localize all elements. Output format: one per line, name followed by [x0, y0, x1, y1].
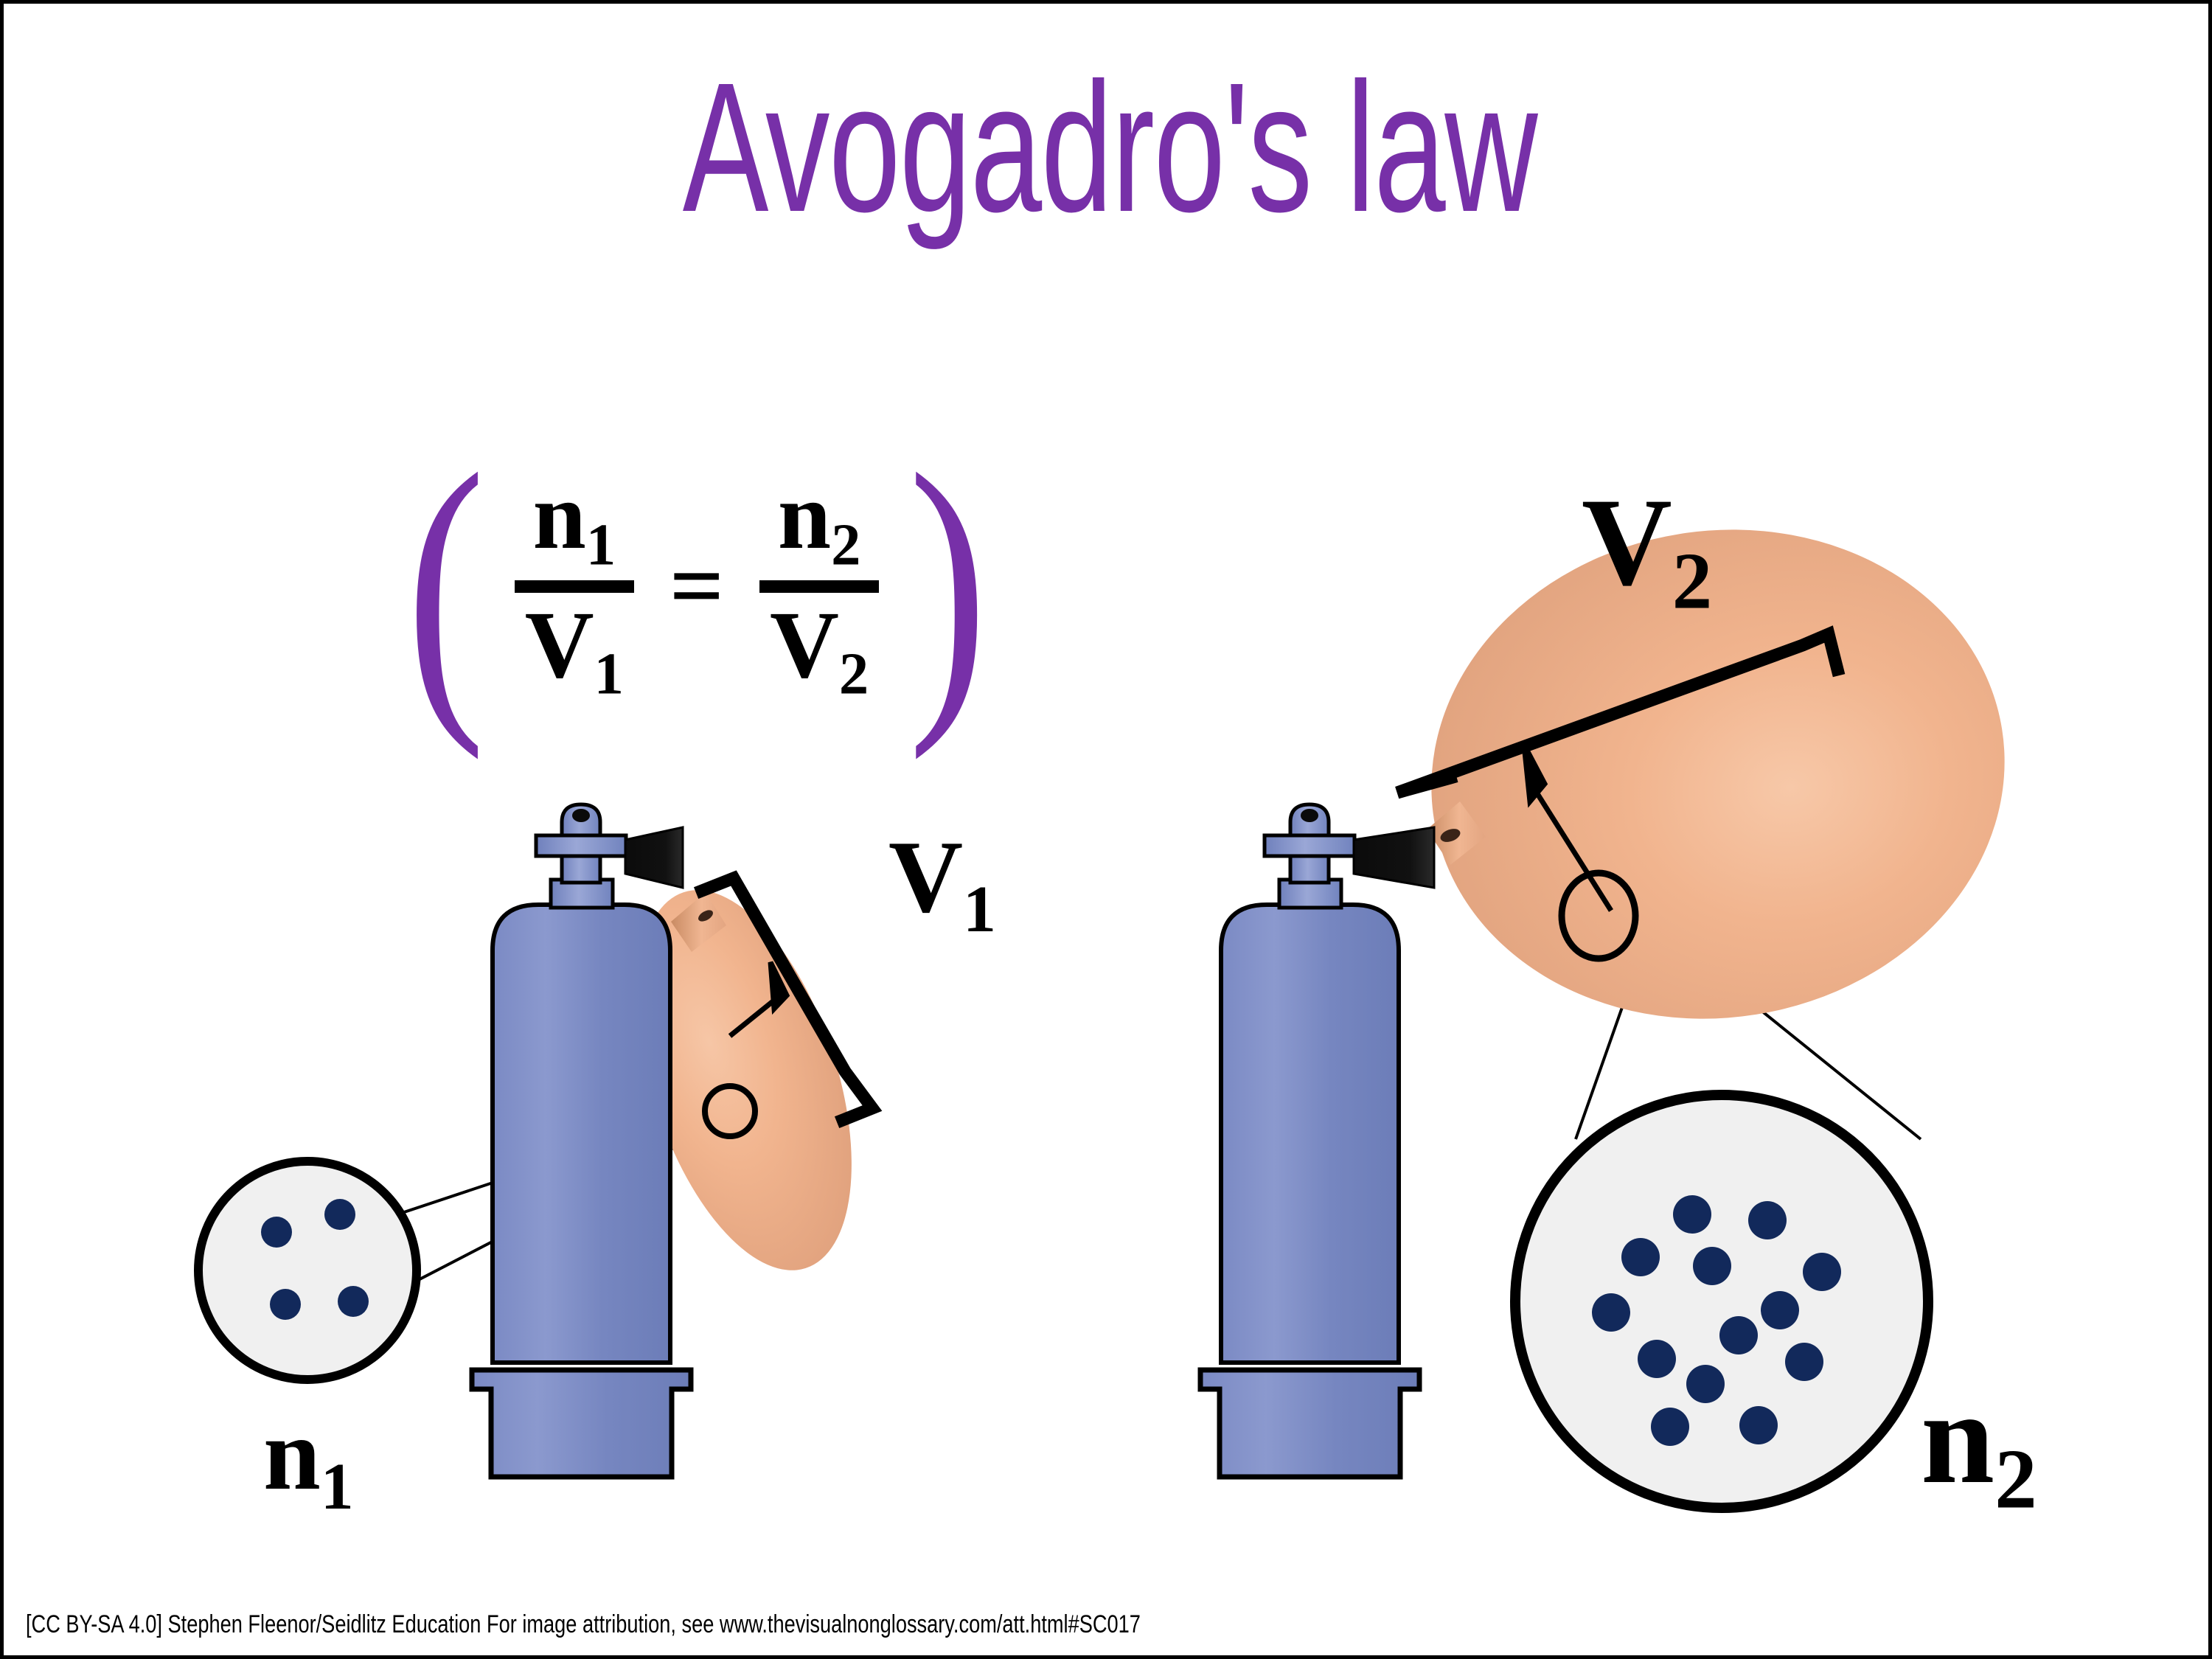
cylinder-body — [493, 905, 670, 1363]
gas-molecule — [261, 1217, 292, 1248]
v1-label: V1 — [888, 826, 996, 942]
gas-molecule — [338, 1286, 369, 1317]
right-gas-cylinder — [1200, 804, 1434, 1477]
v1-measure-bracket — [702, 878, 872, 1120]
denominator-v2: V2 — [759, 597, 879, 704]
balloon-body — [596, 863, 893, 1296]
right-magnifier — [1515, 1095, 1928, 1508]
cylinder-valve-handle — [1265, 835, 1354, 856]
right-scene — [1200, 489, 2040, 1508]
gas-molecule — [1761, 1291, 1799, 1329]
v2-label: V2 — [1582, 479, 1712, 622]
close-bracket: ) — [908, 462, 987, 709]
fraction-bar — [759, 580, 879, 593]
left-detail-circle — [705, 1086, 755, 1136]
gas-molecule — [1785, 1343, 1823, 1381]
left-balloon — [596, 863, 893, 1296]
left-magnifier — [198, 1161, 417, 1380]
gas-molecule — [1803, 1253, 1841, 1291]
gas-molecule — [1638, 1340, 1676, 1378]
attribution-footer: [CC BY-SA 4.0] Stephen Fleenor/Seidlitz … — [26, 1610, 1141, 1639]
v2-arrow-icon — [1524, 745, 1611, 911]
cylinder-valve-handle — [536, 835, 626, 856]
fraction-n1-over-v1: n1 V1 — [515, 468, 634, 703]
n1-label: n1 — [263, 1403, 354, 1520]
gas-molecule — [1651, 1408, 1689, 1446]
gas-molecule — [1621, 1238, 1660, 1276]
balloon-body — [1396, 489, 2040, 1060]
cylinder-base — [1200, 1370, 1419, 1477]
right-detail-circle — [1562, 873, 1635, 959]
balloon-knot — [1439, 827, 1462, 845]
denominator-v1: V1 — [515, 597, 634, 704]
cylinder-valve-stem — [1290, 804, 1329, 883]
gas-molecule — [324, 1199, 355, 1230]
fraction-bar — [515, 580, 634, 593]
left-molecule-group — [261, 1199, 369, 1320]
right-molecule-group — [1592, 1195, 1841, 1446]
valve-port-icon — [1301, 809, 1318, 822]
numerator-n2: n2 — [768, 468, 872, 575]
cylinder-valve-stem — [562, 804, 600, 883]
cylinder-nozzle — [1354, 827, 1434, 888]
n2-label: n2 — [1921, 1371, 2037, 1522]
cylinder-base — [472, 1370, 691, 1477]
magnifier-circle — [198, 1161, 417, 1380]
gas-molecule — [1693, 1247, 1731, 1285]
left-gas-cylinder — [472, 804, 691, 1477]
right-leader-lines — [1576, 934, 1921, 1139]
right-balloon — [1396, 489, 2040, 1060]
balloon-neck — [1427, 801, 1486, 865]
cylinder-shoulder — [1279, 880, 1341, 908]
balloon-neck — [671, 892, 726, 952]
gas-molecule — [1673, 1195, 1711, 1234]
page-title: Avogadro's law — [335, 55, 1884, 240]
open-bracket: ( — [406, 462, 484, 709]
slide-canvas: Avogadro's law ( n1 V1 = n2 V2 ) — [0, 0, 2212, 1659]
valve-port-icon — [572, 809, 590, 822]
gas-molecule — [1719, 1316, 1758, 1354]
left-scene — [198, 804, 894, 1477]
fraction-n2-over-v2: n2 V2 — [759, 468, 879, 703]
avogadro-law-formula: ( n1 V1 = n2 V2 ) — [321, 446, 1073, 726]
gas-molecule — [270, 1289, 301, 1320]
gas-molecule — [1748, 1201, 1787, 1239]
balloon-knot — [696, 908, 714, 923]
gas-molecule — [1592, 1293, 1630, 1332]
v2-measure-bracket — [1397, 634, 1837, 793]
v1-arrow-icon — [730, 962, 787, 1036]
gas-molecule — [1686, 1365, 1725, 1403]
gas-molecule — [1739, 1406, 1778, 1444]
cylinder-body — [1221, 905, 1399, 1363]
magnifier-circle — [1515, 1095, 1928, 1508]
left-leader-lines — [299, 1104, 730, 1342]
equals-sign: = — [669, 531, 724, 641]
cylinder-shoulder — [551, 880, 613, 908]
numerator-n1: n1 — [523, 468, 627, 575]
cylinder-nozzle — [625, 827, 683, 888]
